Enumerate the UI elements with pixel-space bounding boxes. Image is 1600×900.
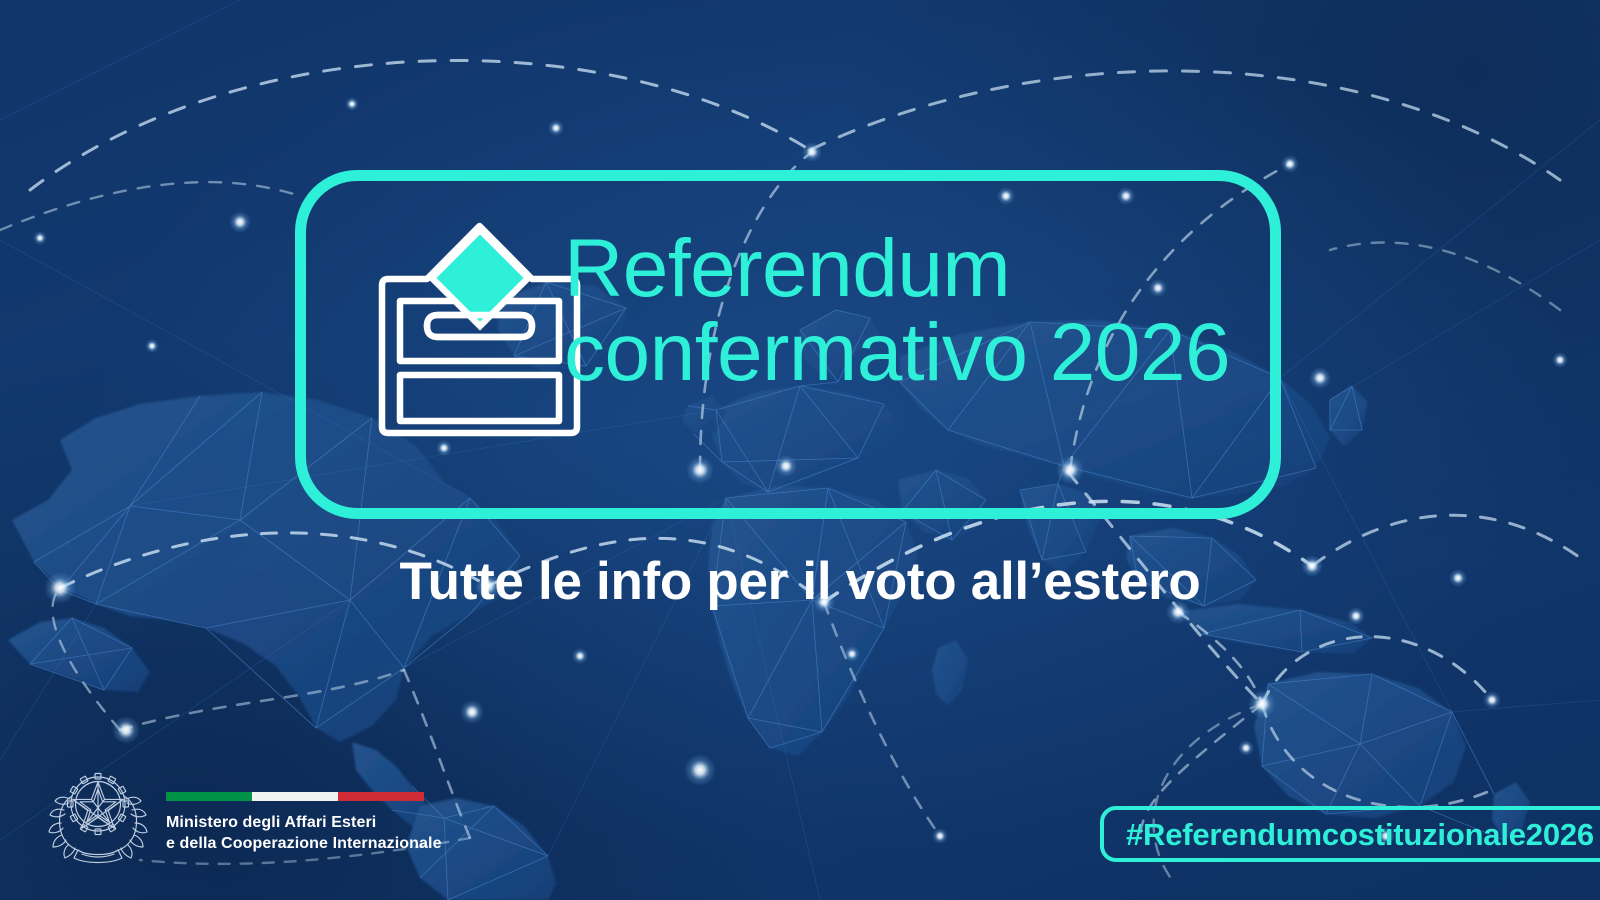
ministry-text-block: Ministero degli Affari Esteri e della Co…	[166, 752, 442, 854]
title-line-2: confermativo 2026	[564, 311, 1276, 395]
poster-subtitle: Tutte le info per il voto all’estero	[0, 551, 1600, 613]
emblem-of-italy-icon	[48, 752, 148, 864]
flag-stripe-green	[166, 792, 252, 801]
ministry-logo-lockup: Ministero degli Affari Esteri e della Co…	[48, 752, 442, 864]
ministry-name-line-1: Ministero degli Affari Esteri	[166, 812, 442, 833]
ministry-name-line-2: e della Cooperazione Internazionale	[166, 833, 442, 854]
hashtag-label: #Referendumcostituzionale2026	[1126, 819, 1594, 850]
flag-stripe-red	[338, 792, 424, 801]
title-line-1: Referendum	[564, 227, 1276, 311]
italian-flag-bar	[166, 792, 424, 801]
poster-canvas: Referendum confermativo 2026 Tutte le in…	[0, 0, 1600, 900]
hashtag-badge: #Referendumcostituzionale2026	[1100, 806, 1600, 862]
ballot-box-icon	[372, 209, 587, 439]
poster-title: Referendum confermativo 2026	[564, 227, 1276, 395]
title-card: Referendum confermativo 2026	[295, 170, 1281, 519]
flag-stripe-white	[252, 792, 338, 801]
